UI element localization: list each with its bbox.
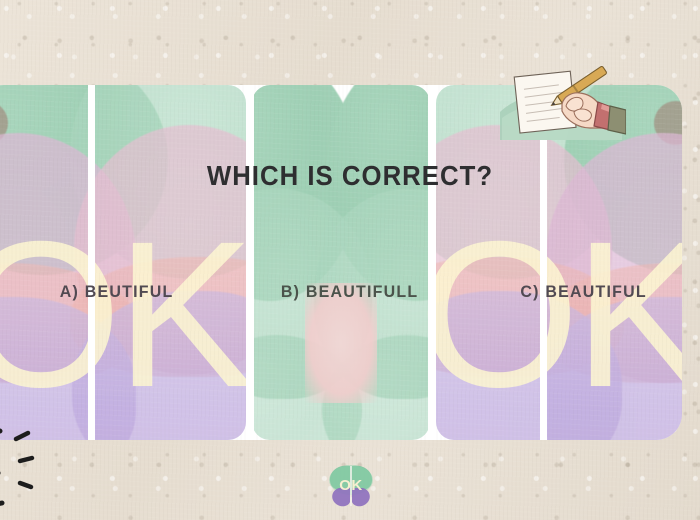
page-title: WHICH IS CORRECT? (28, 160, 672, 192)
hand-writing-icon (498, 48, 626, 140)
brand-logo-label: OK (325, 462, 377, 508)
panel-divider (246, 85, 254, 440)
watermark-ok-right: OK (418, 211, 682, 419)
panel-divider (88, 85, 95, 440)
slide-canvas: OK OK WHICH IS CORRECT? A) BEUTIFUL B) B… (0, 0, 700, 520)
watermark-ok-left: OK (0, 211, 249, 419)
option-b[interactable]: B) BEAUTIFULL (240, 275, 459, 309)
brand-logo: OK (325, 462, 377, 508)
panel-divider (428, 85, 436, 440)
answer-options: A) BEUTIFUL B) BEAUTIFULL C) BEAUTIFUL (0, 275, 700, 309)
option-c[interactable]: C) BEAUTIFUL (474, 275, 693, 309)
sparkle-doodle-icon (0, 425, 42, 513)
option-a[interactable]: A) BEUTIFUL (7, 275, 226, 309)
